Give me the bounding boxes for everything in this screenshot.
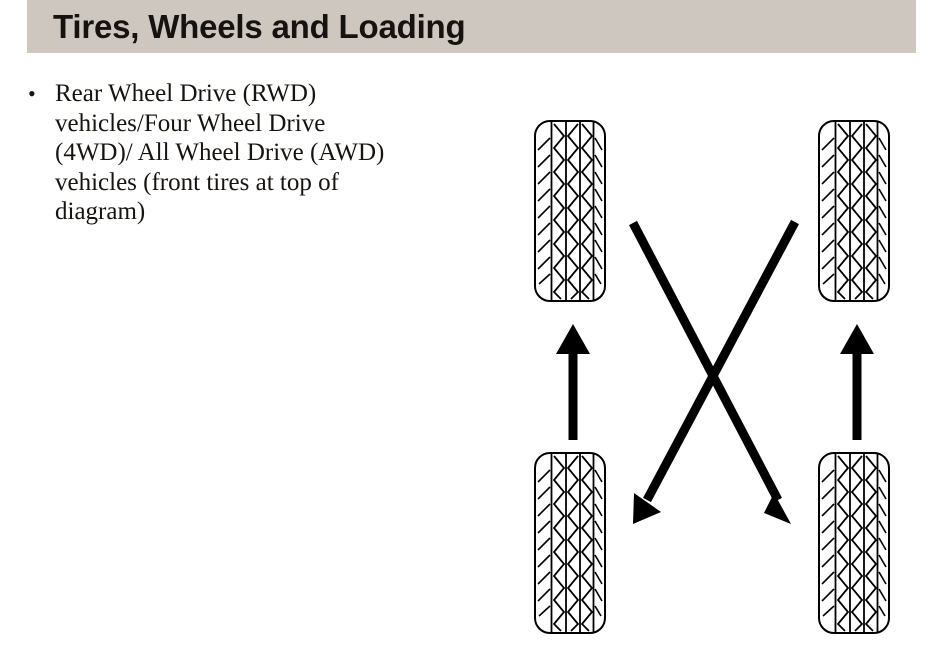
arrow-front-right-to-rear-left xyxy=(633,222,795,524)
arrow-front-left-to-rear-right xyxy=(633,223,791,524)
tire-rear-left xyxy=(535,453,605,633)
page-title: Tires, Wheels and Loading xyxy=(53,8,465,46)
bullet-text: Rear Wheel Drive (RWD) vehicles/Four Whe… xyxy=(55,79,384,227)
slide-title-bar: Tires, Wheels and Loading xyxy=(27,0,916,53)
tire-rear-right xyxy=(819,453,889,633)
tire-front-left xyxy=(535,121,605,301)
list-item: • Rear Wheel Drive (RWD) vehicles/Four W… xyxy=(28,79,468,227)
arrow-rear-right-to-front-right xyxy=(840,324,874,440)
tire-front-right xyxy=(819,121,889,301)
arrow-rear-left-to-front-left xyxy=(556,324,590,440)
bullet-marker-icon: • xyxy=(28,79,55,109)
bullet-list: • Rear Wheel Drive (RWD) vehicles/Four W… xyxy=(28,79,468,227)
